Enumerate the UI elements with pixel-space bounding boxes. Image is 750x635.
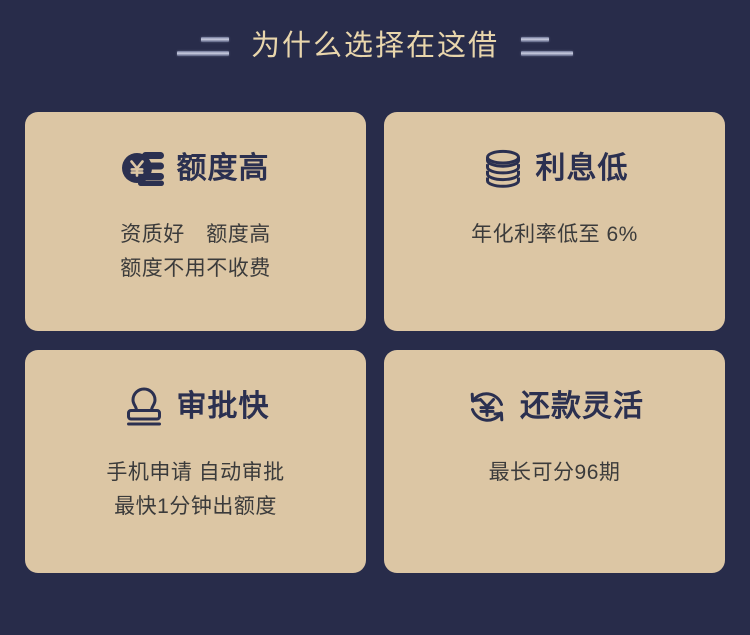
card-header: 审批快 <box>122 384 270 430</box>
card-header: 利息低 <box>481 146 629 192</box>
feature-card-grid: 额度高 资质好 额度高 额度不用不收费 <box>25 112 725 573</box>
card-body-line: 额度不用不收费 <box>120 252 271 286</box>
feature-card-flexible-repayment[interactable]: 还款灵活 最长可分96期 <box>384 350 725 573</box>
feature-card-credit-limit[interactable]: 额度高 资质好 额度高 额度不用不收费 <box>25 112 366 331</box>
card-body: 年化利率低至 6% <box>471 218 638 252</box>
card-title: 利息低 <box>536 154 629 184</box>
page-header: 为什么选择在这借 <box>0 0 750 92</box>
card-body-line: 最快1分钟出额度 <box>106 490 284 524</box>
card-title: 审批快 <box>177 392 270 422</box>
card-body-line: 手机申请 自动审批 <box>106 456 284 490</box>
yuan-coin-bars-icon <box>122 147 166 191</box>
card-header: 额度高 <box>122 146 270 192</box>
card-body-line: 最长可分96期 <box>489 456 621 490</box>
ornament-short-bar <box>201 37 229 42</box>
card-header: 还款灵活 <box>465 384 644 430</box>
card-body-line: 年化利率低至 6% <box>471 218 638 252</box>
card-body: 最长可分96期 <box>489 456 621 490</box>
rubber-stamp-icon <box>122 385 166 429</box>
feature-card-low-interest[interactable]: 利息低 年化利率低至 6% <box>384 112 725 331</box>
card-title: 额度高 <box>177 154 270 184</box>
promo-page: 为什么选择在这借 <box>0 0 750 635</box>
card-body: 手机申请 自动审批 最快1分钟出额度 <box>106 456 284 524</box>
coin-stack-icon <box>481 147 525 191</box>
double-dash-ornament-right-icon <box>521 33 577 59</box>
card-body: 资质好 额度高 额度不用不收费 <box>120 218 271 286</box>
page-title: 为什么选择在这借 <box>251 32 499 61</box>
double-dash-ornament-left-icon <box>173 33 229 59</box>
ornament-long-bar <box>521 51 573 56</box>
yuan-refresh-circle-icon <box>465 385 509 429</box>
card-title: 还款灵活 <box>520 392 644 422</box>
feature-card-fast-approval[interactable]: 审批快 手机申请 自动审批 最快1分钟出额度 <box>25 350 366 573</box>
ornament-short-bar <box>521 37 549 42</box>
ornament-long-bar <box>177 51 229 56</box>
card-body-line: 资质好 额度高 <box>120 218 271 252</box>
